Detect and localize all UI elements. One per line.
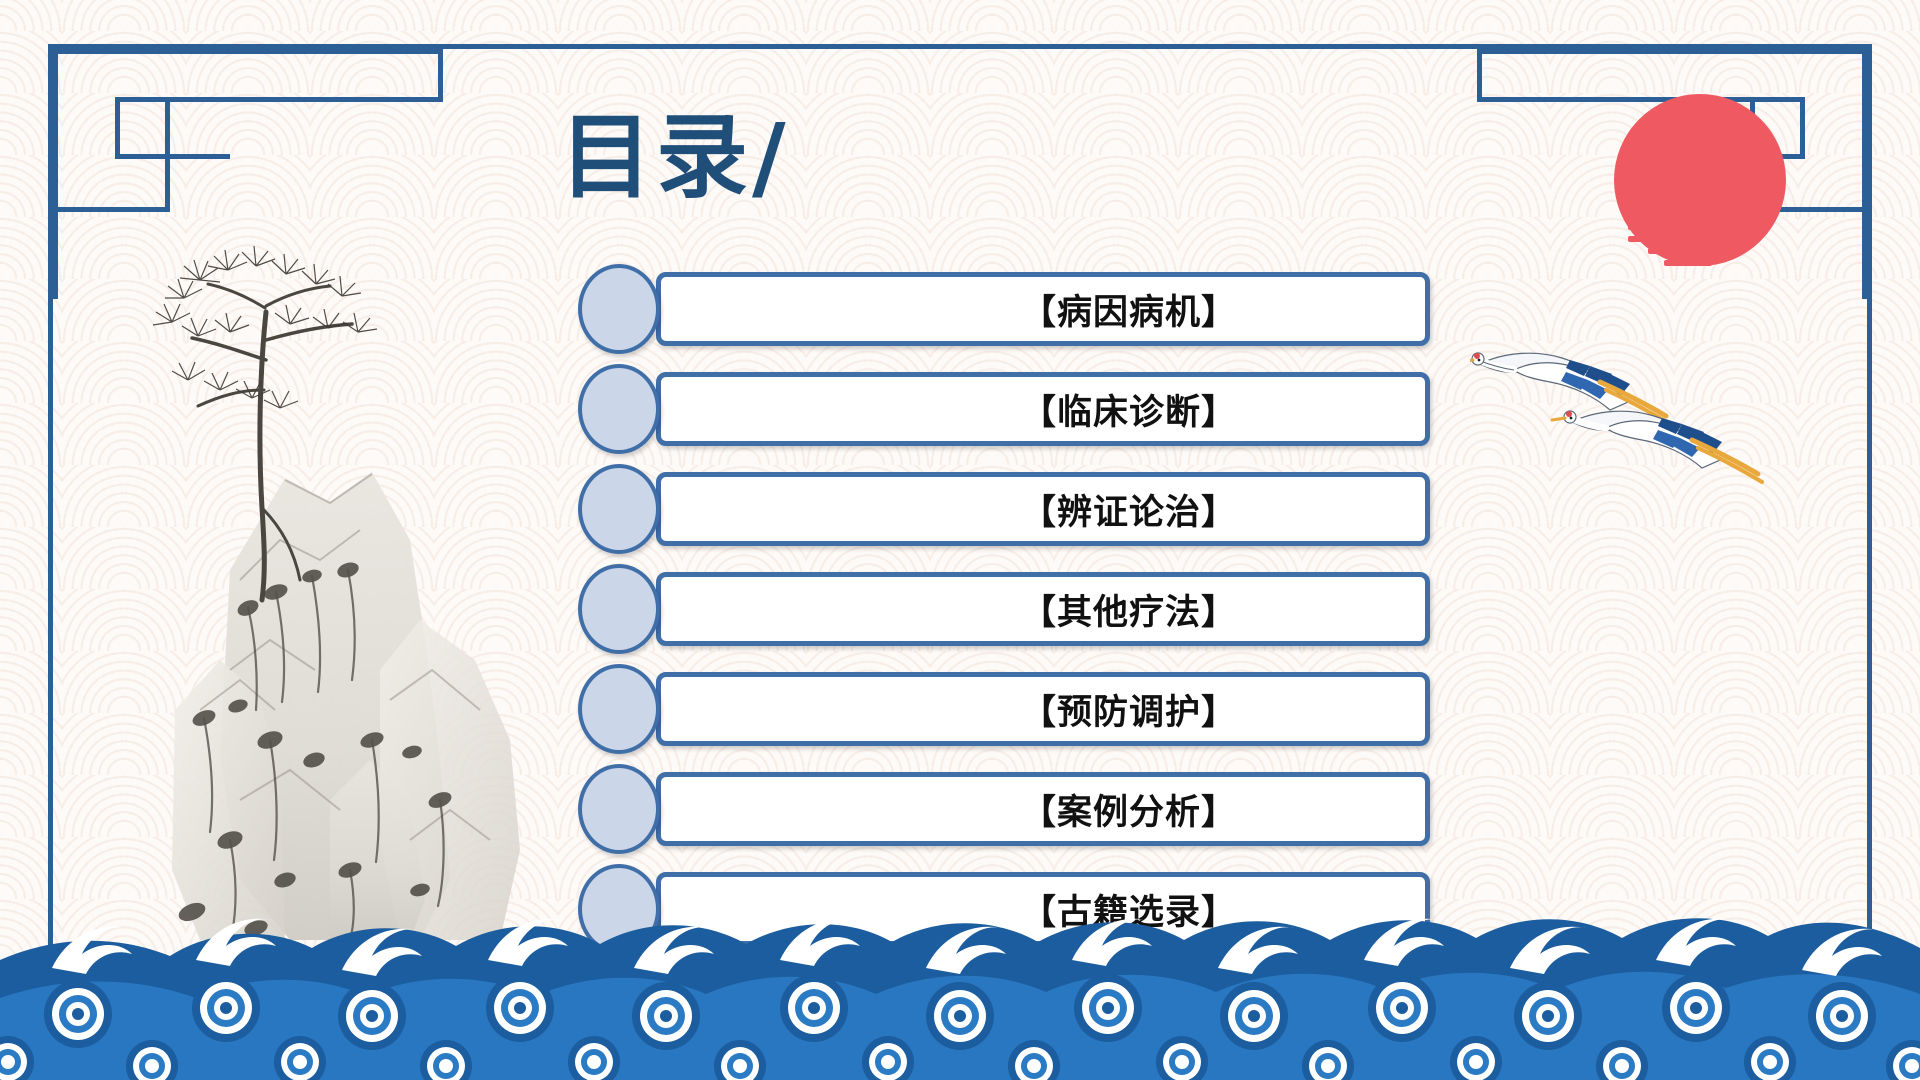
list-item[interactable]: 【临床诊断】: [578, 372, 1430, 446]
toc-item-label: 【其他疗法】: [1021, 584, 1237, 635]
corner-frame-top-left-icon: [53, 49, 173, 149]
toc-item-label: 【辨证论治】: [1021, 484, 1237, 535]
toc-pill[interactable]: 【其他疗法】: [656, 572, 1430, 646]
toc-pill[interactable]: 【病因病机】: [656, 272, 1430, 346]
toc-item-label: 【案例分析】: [1021, 784, 1237, 835]
red-sun-streaks-icon: [1614, 186, 1786, 274]
toc-bullet-circle: [578, 364, 660, 454]
toc-pill[interactable]: 【辨证论治】: [656, 472, 1430, 546]
toc-pill[interactable]: 【临床诊断】: [656, 372, 1430, 446]
toc-pill[interactable]: 【案例分析】: [656, 772, 1430, 846]
toc-pill[interactable]: 【预防调护】: [656, 672, 1430, 746]
list-item[interactable]: 【预防调护】: [578, 672, 1430, 746]
toc-bullet-circle: [578, 464, 660, 554]
page-title: 目录/: [560, 112, 790, 204]
toc-bullet-circle: [578, 764, 660, 854]
list-item[interactable]: 【其他疗法】: [578, 572, 1430, 646]
toc-item-label: 【预防调护】: [1021, 684, 1237, 735]
list-item[interactable]: 【病因病机】: [578, 272, 1430, 346]
toc-item-label: 【临床诊断】: [1021, 384, 1237, 435]
table-of-contents-list: 【病因病机】 【临床诊断】 【辨证论治】 【其他疗法】 【预防调护】: [578, 272, 1430, 972]
toc-bullet-circle: [578, 564, 660, 654]
ocean-wave-border-icon: [0, 890, 1920, 1080]
ink-mountain-pine-icon: [80, 240, 600, 980]
slide-canvas: 目录/: [0, 0, 1920, 1080]
toc-bullet-circle: [578, 664, 660, 754]
toc-item-label: 【病因病机】: [1021, 284, 1237, 335]
flying-cranes-icon: [1470, 330, 1800, 510]
toc-bullet-circle: [578, 264, 660, 354]
list-item[interactable]: 【辨证论治】: [578, 472, 1430, 546]
list-item[interactable]: 【案例分析】: [578, 772, 1430, 846]
